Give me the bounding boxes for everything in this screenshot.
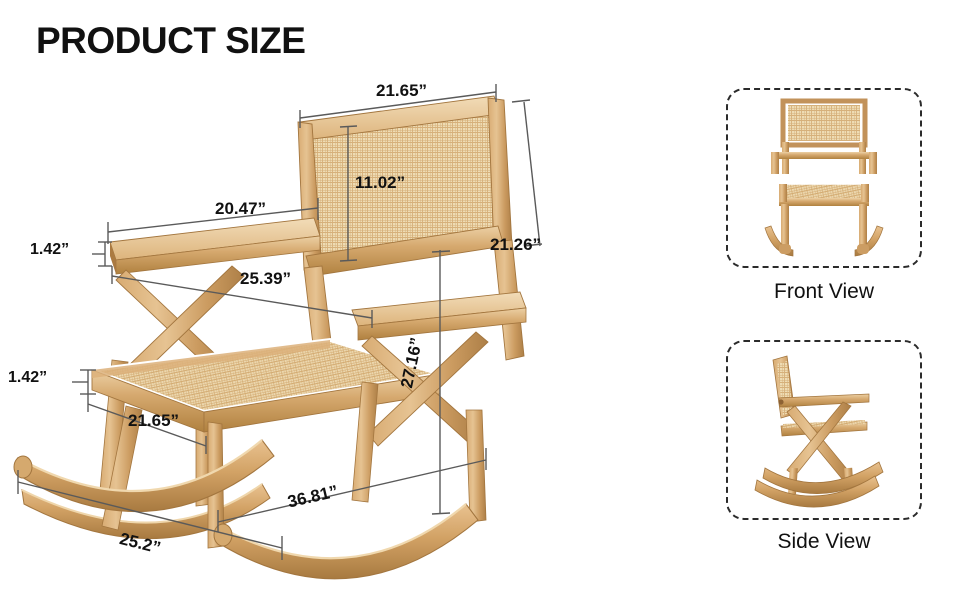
front-view-panel [726,88,922,268]
armrest-thickness-label: 1.42” [30,242,69,258]
backrest-width-label: 21.65” [376,82,427,99]
armrest-right [352,292,526,340]
back-overall-height-label: 21.26” [490,236,541,253]
armrest-left [110,218,320,274]
armrest-length-label: 20.47” [215,200,266,217]
chair-side-view [747,350,902,510]
backrest-panel-height-label: 11.02” [355,174,405,191]
product-size-diagram: PRODUCT SIZE [0,0,970,600]
chair-drawing [0,70,700,590]
main-chair-illustration: 21.65” 11.02” 21.26” 20.47” 1.42” 25.39”… [0,70,700,590]
seat-width-label: 21.65” [128,412,179,429]
side-view-panel [726,340,922,520]
seat-thickness-label: 1.42” [8,370,47,386]
front-view-art [728,90,920,266]
side-view-art [728,342,920,518]
side-view-caption: Side View [726,530,922,554]
front-view-caption: Front View [726,280,922,304]
arm-to-back-depth-label: 25.39” [240,270,291,287]
page-title: PRODUCT SIZE [36,22,305,59]
chair-front-view [749,98,899,258]
